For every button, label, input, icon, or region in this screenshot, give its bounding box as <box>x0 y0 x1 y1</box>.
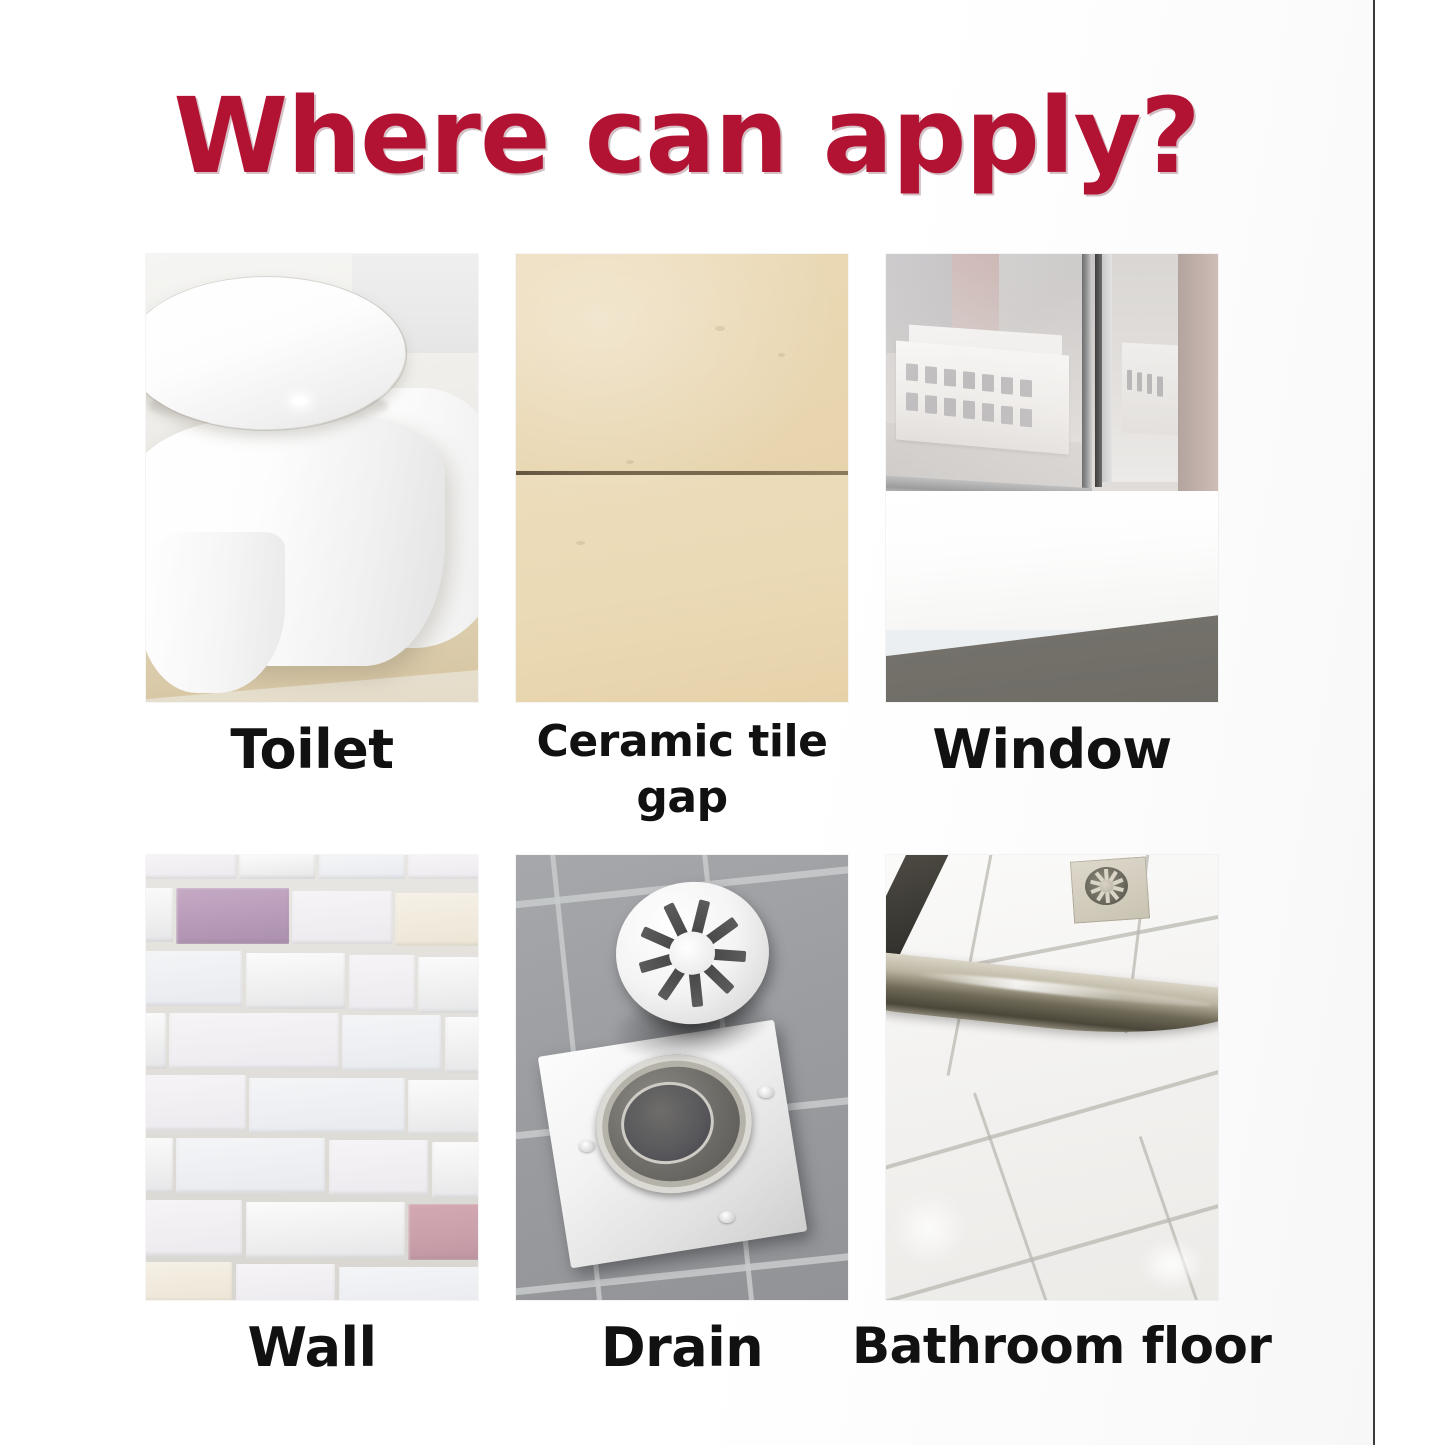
grid-item-bathroom-floor[interactable]: Bathroom floor <box>886 855 1218 1374</box>
right-edge-rule <box>1373 0 1375 1445</box>
ceramic-tile-speck <box>778 353 785 357</box>
ceramic-tile-speck <box>576 541 585 545</box>
caption-bathroom-floor: Bathroom floor <box>852 1318 1218 1374</box>
caption-toilet: Toilet <box>146 720 478 780</box>
wall-photo <box>146 855 478 1300</box>
grid-item-ceramic-tile-gap[interactable]: Ceramic tile gap <box>516 254 848 827</box>
toilet-photo <box>146 254 478 702</box>
ceramic-tile-gap-photo <box>516 254 848 702</box>
drain-screw <box>579 1140 595 1152</box>
caption-line-1: Ceramic tile <box>516 714 848 770</box>
caption-ceramic-tile-gap: Ceramic tile gap <box>516 714 848 827</box>
wall-pink-brick <box>408 1204 478 1260</box>
grid-item-window[interactable]: Window <box>886 254 1218 780</box>
grid-item-wall[interactable]: Wall <box>146 855 478 1378</box>
application-area-grid: Toilet Ceramic tile gap <box>146 254 1218 1300</box>
window-frame-dark-edge <box>1095 254 1102 487</box>
drain-photo <box>516 855 848 1300</box>
bathroom-floor-photo <box>886 855 1218 1300</box>
window-sill <box>886 491 1218 630</box>
bathroom-floor-drain-hub <box>1099 879 1115 893</box>
caption-drain: Drain <box>516 1318 848 1378</box>
window-mullion <box>1102 254 1112 482</box>
ceramic-tile-speck <box>715 326 725 331</box>
ceramic-tile-speck <box>626 460 634 464</box>
window-glass-reflection <box>886 254 1092 509</box>
bathroom-floor-gloss <box>1138 1238 1204 1291</box>
window-right-building <box>1122 342 1178 435</box>
window-photo <box>886 254 1218 702</box>
grid-item-toilet[interactable]: Toilet <box>146 254 478 780</box>
caption-window: Window <box>886 720 1218 780</box>
drain-screw <box>719 1211 735 1223</box>
page-title: Where can apply? <box>0 80 1373 192</box>
window-wall-reveal <box>1178 254 1218 527</box>
right-edge-pane <box>1375 0 1445 1445</box>
caption-line-2: gap <box>516 770 848 826</box>
ceramic-tile-sheen <box>516 254 848 702</box>
window-frame-vertical <box>1082 254 1093 491</box>
poster-canvas: Where can apply? Toilet <box>0 0 1445 1445</box>
grid-item-drain[interactable]: Drain <box>516 855 848 1378</box>
caption-wall: Wall <box>146 1318 478 1378</box>
